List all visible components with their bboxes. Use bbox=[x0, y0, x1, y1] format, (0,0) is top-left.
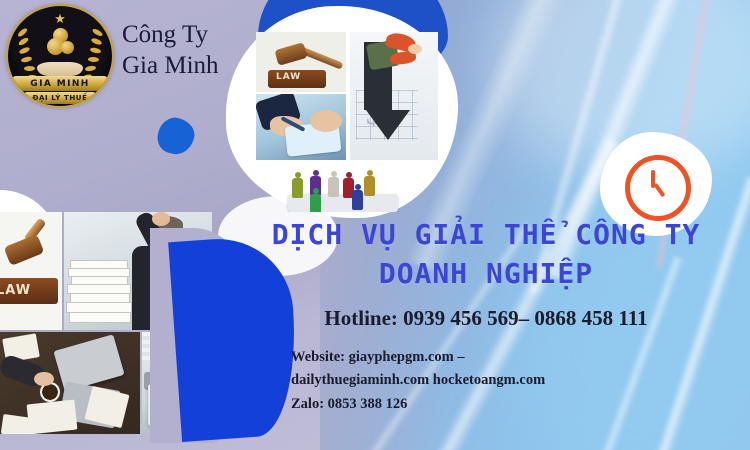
clock-minute-hand bbox=[653, 183, 665, 197]
contact-details: Website: giayphepgm.com – dailythuegiami… bbox=[291, 346, 711, 416]
logo-sub-ribbon: ĐẠI LÝ THUẾ bbox=[24, 92, 96, 104]
gavel-head bbox=[274, 42, 307, 66]
gavel-head bbox=[4, 234, 45, 266]
company-name-line1: Công Ty bbox=[122, 20, 262, 51]
company-name: Công Ty Gia Minh bbox=[122, 20, 262, 81]
clock-icon bbox=[625, 155, 691, 221]
gavel-law-label: LAW bbox=[0, 283, 31, 298]
paper bbox=[1, 414, 33, 434]
puzzle-person bbox=[292, 172, 303, 198]
company-logo: ★ GIA MINH ĐẠI LÝ THUẾ bbox=[8, 6, 112, 106]
signing-document-photo bbox=[256, 94, 346, 160]
star-icon: ★ bbox=[54, 12, 66, 25]
page-title: DỊCH VỤ GIẢI THỂ CÔNG TY DOANH NGHIỆP bbox=[226, 216, 746, 293]
puzzle-people-photo bbox=[282, 164, 404, 212]
person-figure bbox=[364, 34, 410, 74]
gavel-law-photo: LAW bbox=[256, 32, 346, 92]
laptop bbox=[53, 334, 124, 391]
declining-chart-photo: $ bbox=[350, 32, 438, 160]
logo-ribbon: GIA MINH bbox=[12, 76, 108, 91]
blue-blob-small bbox=[155, 115, 198, 158]
paper bbox=[27, 400, 78, 434]
headline-line2: DOANH NGHIỆP bbox=[226, 255, 746, 294]
company-name-line2: Gia Minh bbox=[122, 51, 262, 82]
document-stack bbox=[69, 312, 131, 323]
person-hand bbox=[408, 44, 422, 54]
banner: LAW $ bbox=[0, 0, 750, 450]
hotline-text: Hotline: 0939 456 569– 0868 458 111 bbox=[226, 306, 746, 331]
gavel-sound-block: LAW bbox=[268, 70, 326, 88]
gavel-law-label: LAW bbox=[276, 72, 301, 82]
hand-icon bbox=[37, 62, 83, 76]
headline-line1: DỊCH VỤ GIẢI THỂ CÔNG TY bbox=[226, 216, 746, 255]
coins-icon bbox=[43, 28, 77, 62]
puzzle-person bbox=[352, 184, 363, 210]
logo-ribbon-text: GIA MINH bbox=[30, 79, 89, 89]
website-line1: Website: giayphepgm.com – bbox=[291, 346, 711, 369]
photo-collage: LAW $ bbox=[244, 18, 440, 206]
puzzle-person bbox=[364, 170, 375, 196]
logo-sub-ribbon-text: ĐẠI LÝ THUẾ bbox=[33, 94, 88, 102]
puzzle-person bbox=[328, 171, 339, 197]
desk-laptops-topview-photo bbox=[0, 332, 140, 434]
gavel-law-photo: LAW bbox=[0, 212, 62, 330]
hand bbox=[34, 372, 54, 386]
hand-second bbox=[310, 110, 342, 132]
gavel-sound-block: LAW bbox=[0, 278, 58, 304]
puzzle-person bbox=[310, 188, 321, 212]
hand bbox=[152, 212, 170, 226]
website-line2: dailythuegiaminh.com hocketoangm.com bbox=[291, 369, 711, 392]
zalo-line: Zalo: 0853 388 126 bbox=[291, 393, 711, 416]
